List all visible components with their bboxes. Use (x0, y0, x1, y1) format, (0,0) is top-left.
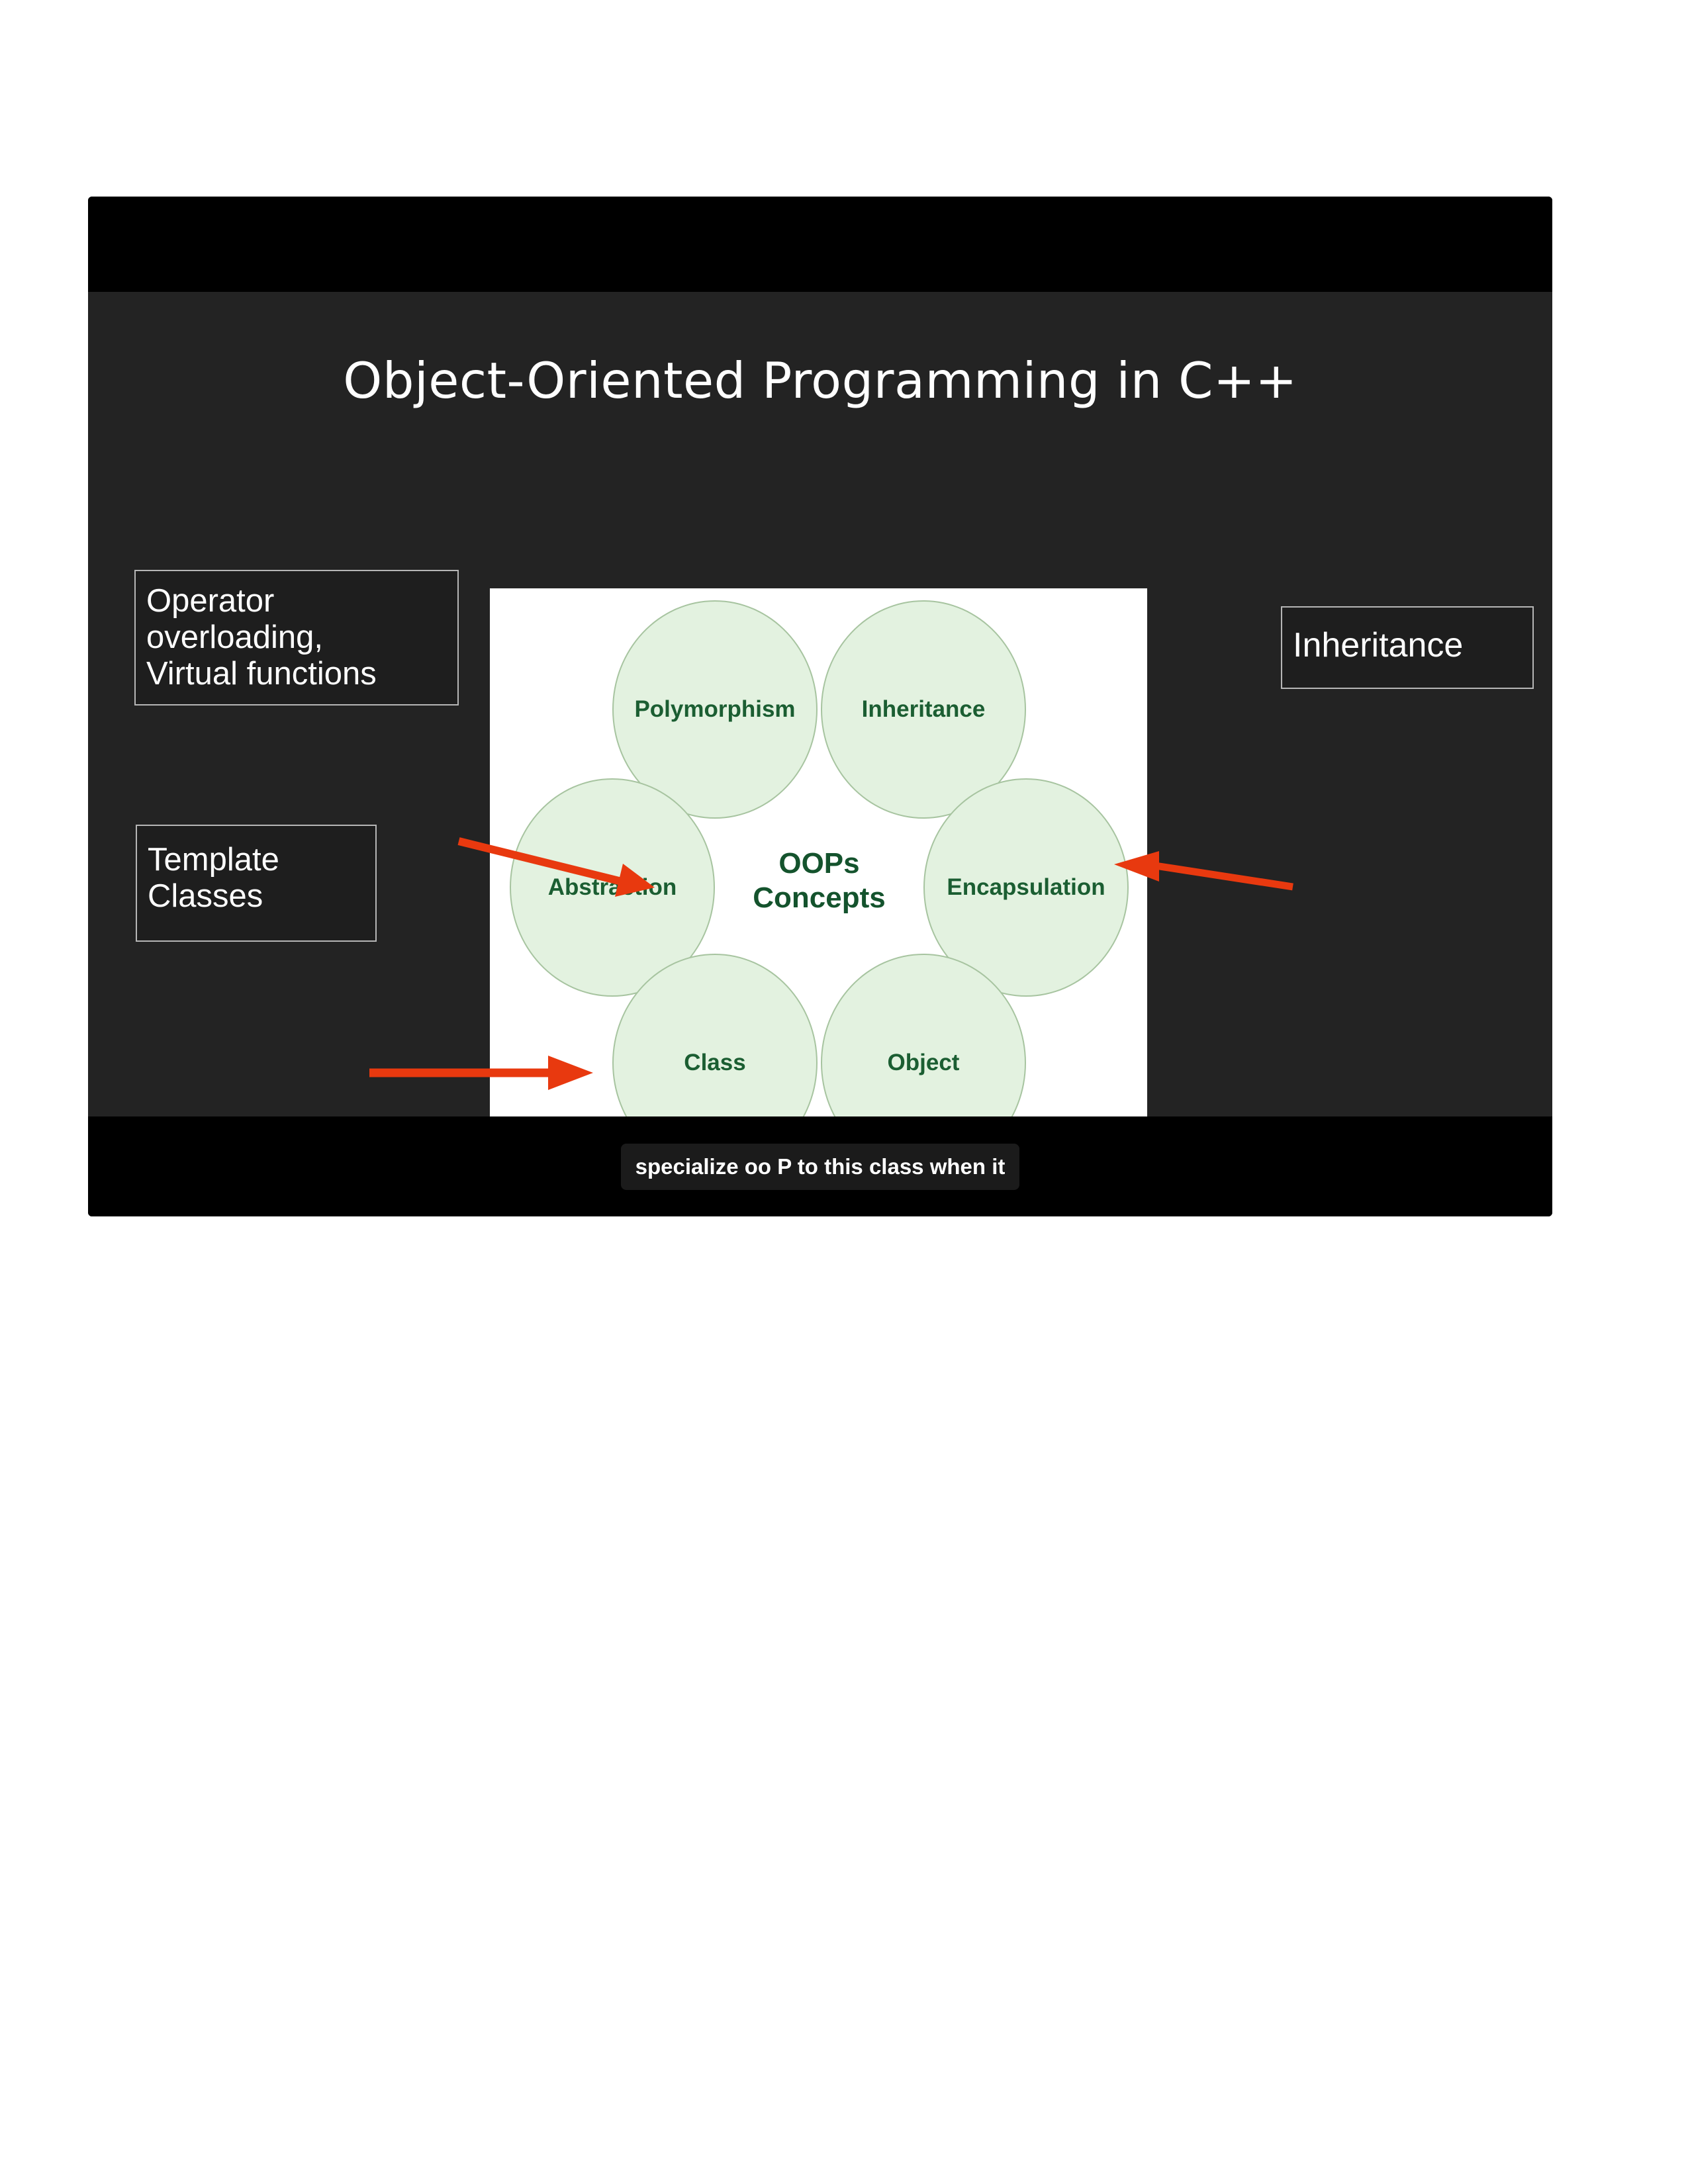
caption-text: specialize oo P to this class when it (621, 1144, 1020, 1190)
callout-operator-line-2: overloading, (146, 619, 448, 656)
concept-label-polymorphism: Polymorphism (634, 696, 795, 723)
callout-inheritance: Inheritance (1281, 606, 1534, 689)
concept-label-object: Object (888, 1050, 960, 1076)
oops-concepts-diagram: Polymorphism Inheritance Abstraction Enc… (490, 588, 1147, 1186)
callout-template-line-2: Classes (148, 878, 366, 915)
letterbox-top (88, 197, 1552, 292)
concept-label-class: Class (684, 1050, 745, 1076)
callout-operator-line-3: Virtual functions (146, 656, 448, 692)
video-player-frame: Object-Oriented Programming in C++ Opera… (88, 197, 1552, 1216)
concept-label-inheritance: Inheritance (862, 696, 986, 723)
callout-template-line-1: Template (148, 842, 366, 878)
callout-operator-line-1: Operator (146, 583, 448, 619)
diagram-center-line-2: Concepts (725, 881, 914, 915)
concept-label-abstraction: Abstraction (548, 874, 677, 901)
slide-surface: Object-Oriented Programming in C++ Opera… (88, 292, 1552, 1116)
page-title: Object-Oriented Programming in C++ (88, 351, 1552, 410)
concept-label-encapsulation: Encapsulation (947, 874, 1105, 901)
callout-inheritance-line-1: Inheritance (1293, 626, 1523, 664)
diagram-center-label: OOPs Concepts (725, 846, 914, 915)
callout-template-classes: Template Classes (136, 825, 377, 942)
caption-bar: specialize oo P to this class when it (88, 1116, 1552, 1216)
callout-operator-overloading: Operator overloading, Virtual functions (134, 570, 459, 705)
diagram-center-line-1: OOPs (725, 846, 914, 881)
